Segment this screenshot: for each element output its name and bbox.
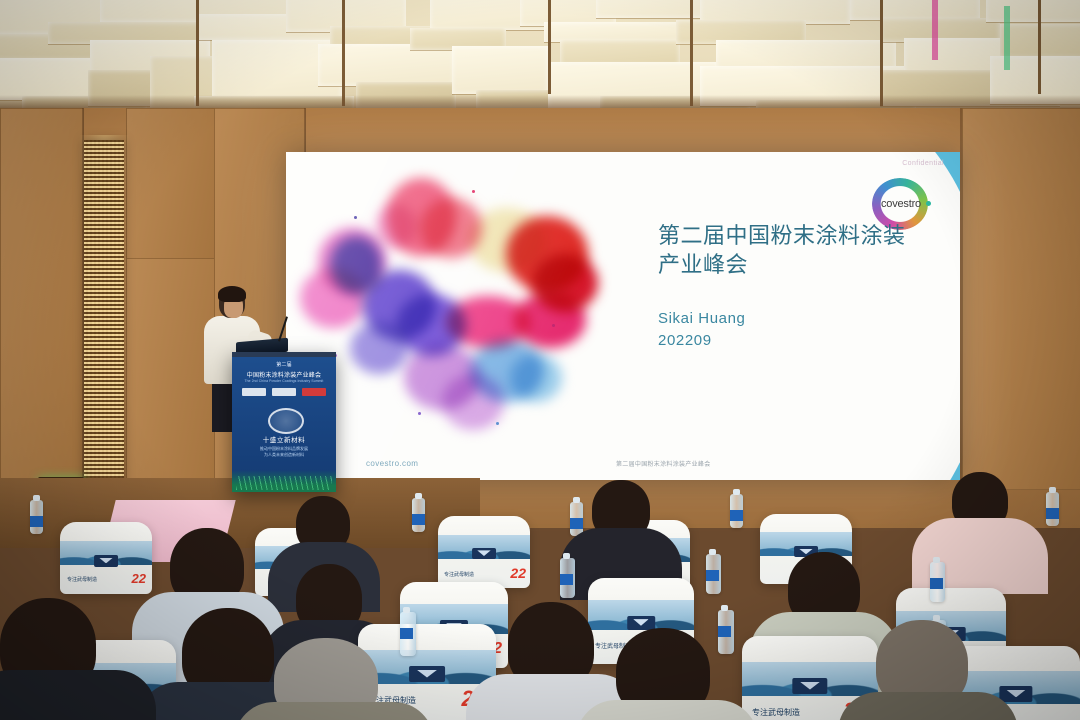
slide-title-line2: 产业峰会 [658,251,948,280]
chair-years-number: 22 [132,571,146,586]
projection-screen: Confidential covestro 第二届中国粉末涂料涂装 产业峰会 S… [286,152,960,480]
water-bottle [730,494,743,528]
podium-slogan: 推动中国粉末涂料品牌发展 为人类未来创造新材料 [232,446,336,458]
podium-english-title: The 2nd China Powder Coatings Industry S… [232,379,336,383]
sponsor-logo-red [302,388,326,396]
chair-years-number: 22 [510,565,526,581]
water-bottle [400,612,416,656]
chair-emblem-icon [472,548,496,560]
podium-top-edge [232,352,336,357]
sponsor-logo-2 [272,388,296,396]
presenter-hair [218,286,246,302]
audience-shoulders [838,692,1018,720]
confidential-label: Confidential [902,160,944,167]
conference-photo: ← 人 安全出口 [0,0,1080,720]
powder-explosion-graphic [300,174,630,464]
water-bottle [30,500,43,534]
water-bottle [570,502,583,536]
podium-brand: 十盛立新材料 [232,434,336,444]
audience-shoulders [234,702,434,720]
slide-title-line1: 第二届中国粉末涂料涂装 [658,222,948,251]
sponsor-logo-1 [242,388,266,396]
chair-cover: 22 专注武母制造 [60,522,152,594]
chair-cover: 22 专注武母制造 [438,516,530,588]
audience-shoulders [576,700,758,720]
chair-slogan: 专注武母制造 [444,571,474,578]
audience-shoulders [0,670,156,720]
chair-emblem-icon [627,616,655,630]
podium-emblem-icon [268,408,304,434]
chair-emblem-icon [792,678,827,694]
chair-slogan: 专注武母制造 [67,576,97,583]
water-bottle [718,610,734,654]
water-bottle [412,498,425,532]
slide-date: 202209 [658,332,712,349]
podium-slogan-line2: 为人类未来创造新材料 [232,452,336,458]
audience-area: 22 专注武母制造 22 专注武母制造 [0,470,1080,720]
metallic-mesh-column [84,140,124,500]
water-bottle [930,562,945,602]
chair-emblem-icon [94,555,118,567]
podium-edition-label: 第二届 [232,361,336,368]
chair-emblem-icon [409,666,445,682]
chair-emblem-icon [999,686,1032,701]
water-bottle [560,558,575,598]
chair-slogan: 专注武母制造 [752,707,800,718]
water-bottle [706,554,721,594]
podium-main-title: 中国粉末涂料涂装产业峰会 [232,370,336,379]
slide-title: 第二届中国粉末涂料涂装 产业峰会 [658,222,948,279]
covestro-dot-icon [926,201,931,206]
slide-footer-note: 第二届中国粉末涂料涂装产业峰会 [616,459,711,468]
podium-sponsor-logos [242,387,326,396]
water-bottle [1046,492,1059,526]
slide-footer-url: covestro.com [366,459,418,468]
slide-author: Sikai Huang [658,310,745,327]
